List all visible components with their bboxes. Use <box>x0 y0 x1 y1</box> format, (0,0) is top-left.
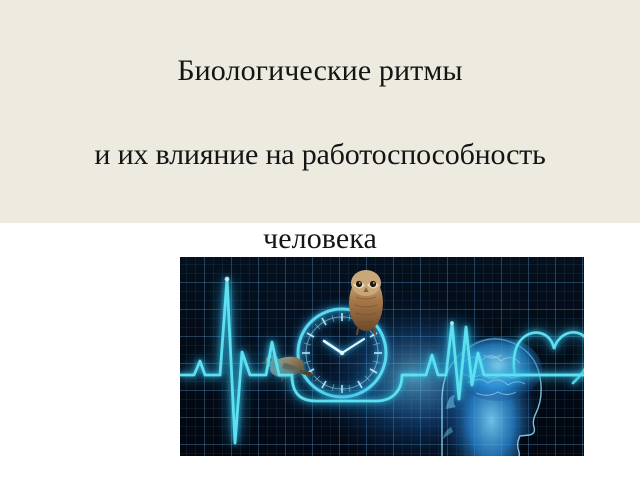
ecg-brain-peak-highlight <box>450 321 454 325</box>
title-line-1: Биологические ритмы <box>0 50 640 92</box>
title-line-3: человека <box>0 218 640 260</box>
ecg-peak-highlight <box>225 277 230 282</box>
title-line-2: и их влияние на работоспособность <box>0 134 640 176</box>
illustration-graphics <box>180 257 584 456</box>
illustration-image <box>180 257 584 456</box>
slide: Биологические ритмы и их влияние на рабо… <box>0 0 640 480</box>
